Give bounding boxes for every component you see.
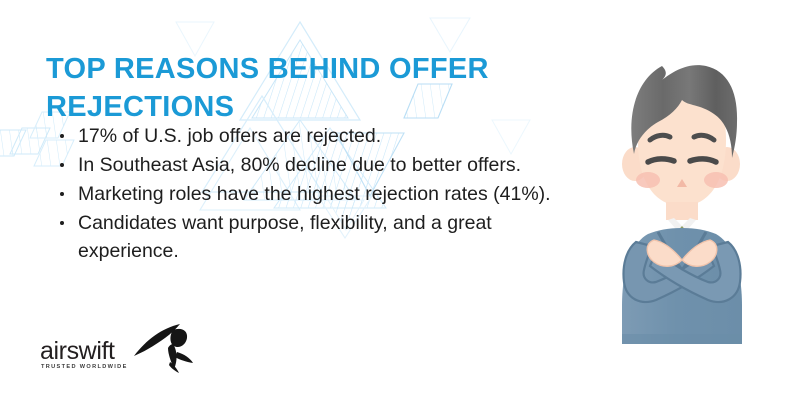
list-item-text: In Southeast Asia, 80% decline due to be… [78, 154, 521, 176]
list-item: In Southeast Asia, 80% decline due to be… [56, 151, 596, 179]
list-item: Marketing roles have the highest rejecti… [56, 180, 596, 208]
logo-tagline: TRUSTED WORLDWIDE [41, 364, 128, 371]
bullet-dot-icon [60, 221, 64, 225]
sad-businessman-illustration [596, 34, 786, 354]
slide-canvas: TOP REASONS BEHIND OFFER REJECTIONS 17% … [0, 0, 800, 400]
bullet-dot-icon [60, 192, 64, 196]
list-item: 17% of U.S. job offers are rejected. [56, 122, 596, 150]
bullet-dot-icon [60, 134, 64, 138]
reasons-list: 17% of U.S. job offers are rejected. In … [56, 122, 596, 266]
list-item-text: Marketing roles have the highest rejecti… [78, 183, 551, 205]
bullet-dot-icon [60, 163, 64, 167]
cheek-left [636, 172, 660, 188]
list-item-text: 17% of U.S. job offers are rejected. [78, 125, 381, 147]
logo-wordmark: airswift [40, 338, 115, 364]
page-title: TOP REASONS BEHIND OFFER REJECTIONS [46, 51, 566, 125]
cheek-right [704, 172, 728, 188]
airswift-logo: airswift TRUSTED WORLDWIDE [40, 326, 200, 378]
jacket-hem [622, 334, 742, 344]
list-item-text: Candidates want purpose, flexibility, an… [78, 212, 492, 262]
list-item: Candidates want purpose, flexibility, an… [56, 209, 596, 265]
swift-bird-icon [132, 322, 194, 374]
